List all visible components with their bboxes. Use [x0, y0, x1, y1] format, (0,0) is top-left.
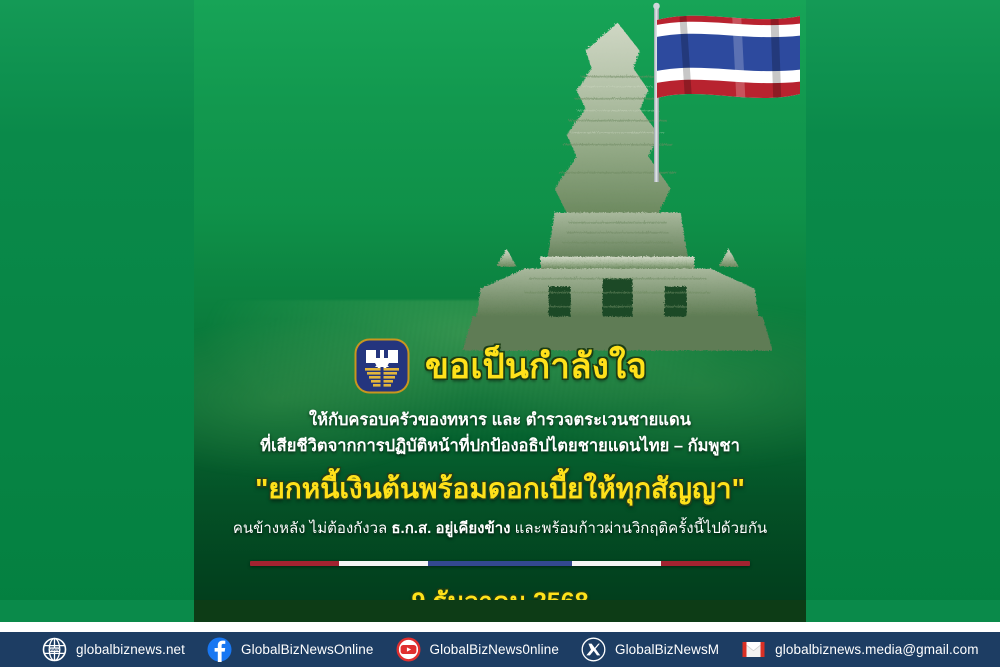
- footer-item-youtube[interactable]: GlobalBizNews0nline: [396, 637, 559, 662]
- subtitle-line-1: ให้กับครอบครัวของทหาร และ ตำรวจตระเวนชาย…: [208, 408, 792, 434]
- poster-screenshot: ขอเป็นกำลังใจ ให้กับครอบครัวของทหาร และ …: [0, 0, 1000, 667]
- footer-label-x: GlobalBizNewsM: [615, 642, 719, 657]
- footer-label-email: globalbiznews.media@gmail.com: [775, 642, 978, 657]
- footer-item-x[interactable]: GlobalBizNewsM: [581, 637, 719, 662]
- footer-label-youtube: GlobalBizNews0nline: [430, 642, 559, 657]
- page-title: ขอเป็นกำลังใจ: [425, 349, 647, 384]
- divider-stripe-red-left: [250, 561, 339, 566]
- footer-label-facebook: GlobalBizNewsOnline: [241, 642, 373, 657]
- subtitle-line-2: ที่เสียชีวิตจากการปฏิบัติหน้าที่ปกป้องอธ…: [208, 434, 792, 460]
- headline-row: ขอเป็นกำลังใจ: [208, 336, 792, 396]
- subtitle-block: ให้กับครอบครัวของทหาร และ ตำรวจตระเวนชาย…: [208, 408, 792, 459]
- main-quote: "ยกหนี้เงินต้นพร้อมดอกเบี้ยให้ทุกสัญญา": [208, 473, 792, 505]
- poster-panel: ขอเป็นกำลังใจ ให้กับครอบครัวของทหาร และ …: [194, 0, 806, 622]
- divider-stripe-white-left: [339, 561, 428, 566]
- tagline-after: และพร้อมก้าวผ่านวิกฤติครั้งนี้ไปด้วยกัน: [511, 520, 768, 537]
- svg-text:www: www: [49, 647, 60, 652]
- thai-flag-divider: [250, 561, 750, 566]
- bottom-band: [0, 600, 1000, 622]
- divider-stripe-blue: [428, 561, 572, 566]
- footer-item-facebook[interactable]: GlobalBizNewsOnline: [207, 637, 373, 662]
- footer-item-email[interactable]: globalbiznews.media@gmail.com: [741, 637, 978, 662]
- poster-content: ขอเป็นกำลังใจ ให้กับครอบครัวของทหาร และ …: [194, 336, 806, 622]
- tagline-emphasis: ธ.ก.ส. อยู่เคียงข้าง: [391, 520, 510, 537]
- divider-stripe-white-right: [572, 561, 661, 566]
- youtube-icon: [396, 637, 421, 662]
- footer-bar: www globalbiznews.net GlobalBizNewsOnlin…: [0, 632, 1000, 667]
- facebook-icon: [207, 637, 232, 662]
- thai-flag-image: [632, 2, 804, 182]
- tagline-before: คนข้างหลัง ไม่ต้องกังวล: [233, 520, 392, 537]
- baac-logo-icon: [353, 337, 411, 395]
- footer-label-website: globalbiznews.net: [76, 642, 185, 657]
- divider-stripe-red-right: [661, 561, 750, 566]
- white-separator: [0, 622, 1000, 632]
- footer-item-website[interactable]: www globalbiznews.net: [42, 637, 185, 662]
- globe-icon: www: [42, 637, 67, 662]
- tagline: คนข้างหลัง ไม่ต้องกังวล ธ.ก.ส. อยู่เคียง…: [208, 518, 792, 539]
- x-twitter-icon: [581, 637, 606, 662]
- gmail-icon: [741, 637, 766, 662]
- bottom-band-inner: [194, 600, 806, 622]
